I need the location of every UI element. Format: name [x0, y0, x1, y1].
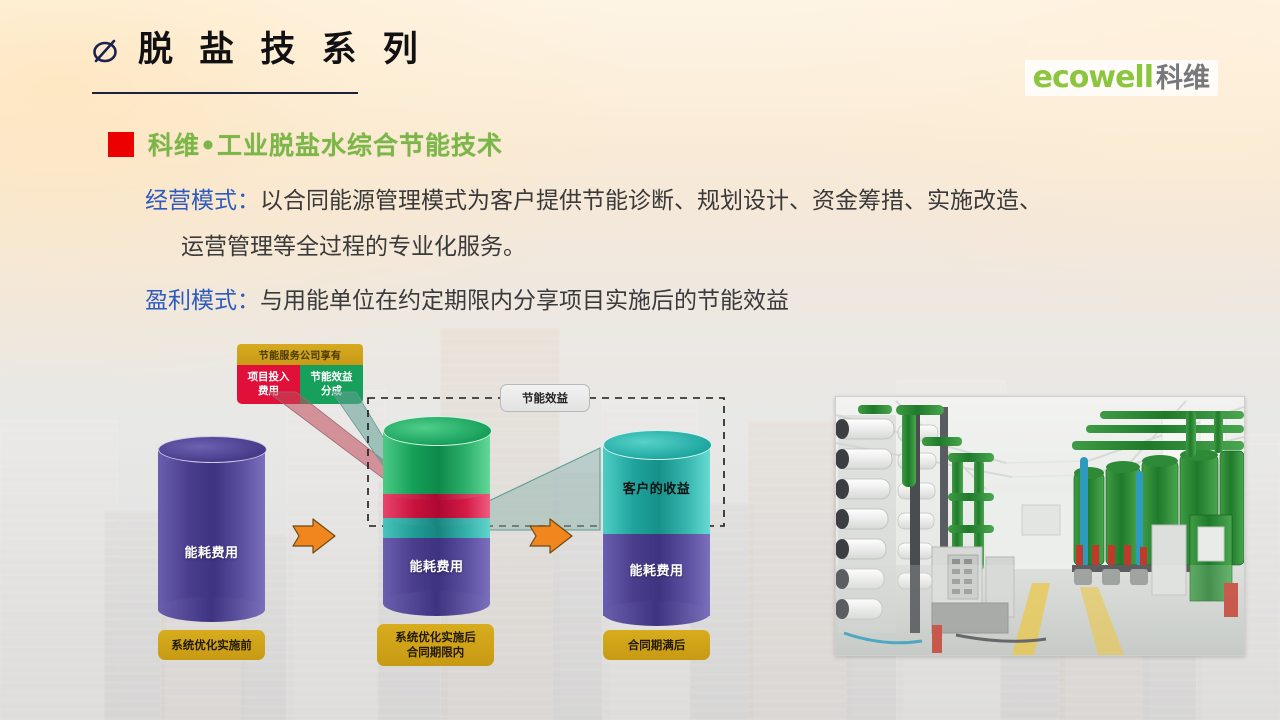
- null-symbol-icon: [88, 34, 122, 68]
- logo-text-secondary: 科维: [1156, 65, 1210, 92]
- paragraph-business-model: 经营模式：以合同能源管理模式为客户提供节能诊断、规划设计、资金筹措、实施改造、 …: [145, 178, 1230, 270]
- footer-tag-after: 合同期满后: [603, 630, 710, 660]
- footer-tag-during-line1: 系统优化实施后: [395, 630, 476, 645]
- title-row: 脱 盐 技 系 列: [88, 33, 425, 68]
- paragraph-sep-1: ：: [237, 188, 260, 214]
- paragraph-profit-model: 盈利模式：与用能单位在约定期限内分享项目实施后的节能效益: [145, 278, 1145, 324]
- slide: 脱 盐 技 系 列 ecowell 科维 科维•工业脱盐水综合节能技术 经营模式…: [0, 0, 1280, 720]
- cylinder-during-top-cap: [383, 416, 492, 446]
- cylinder-after-energy-label: 能耗费用: [603, 560, 710, 579]
- footer-tag-before: 系统优化实施前: [158, 630, 265, 660]
- title-underline: [92, 92, 358, 94]
- footer-tag-during: 系统优化实施后 合同期限内: [377, 624, 494, 666]
- cylinder-during: 能耗费用: [383, 416, 490, 622]
- red-square-bullet-icon: [108, 132, 134, 157]
- section-heading-row: 科维•工业脱盐水综合节能技术: [108, 126, 503, 162]
- cylinder-during-label: 能耗费用: [383, 556, 490, 575]
- brand-logo: ecowell 科维: [1025, 60, 1218, 96]
- paragraph-sep-2: ：: [237, 288, 260, 314]
- cylinder-after: 客户的收益 能耗费用: [603, 430, 710, 622]
- paragraph-line-1a: 以合同能源管理模式为客户提供节能诊断、规划设计、资金筹措、实施改造、: [260, 188, 1042, 214]
- paragraph-line-2a: 与用能单位在约定期限内分享项目实施后的节能效益: [260, 288, 789, 314]
- section-heading: 科维•工业脱盐水综合节能技术: [148, 126, 503, 162]
- paragraph-key-2: 盈利模式: [145, 288, 237, 314]
- paragraph-line-1b: 运营管理等全过程的专业化服务。: [145, 224, 1230, 270]
- cylinder-before-label: 能耗费用: [158, 542, 265, 561]
- cylinder-after-top-cap: [603, 430, 712, 460]
- cylinder-after-bottom-cap: [603, 601, 710, 626]
- paragraph-key-1: 经营模式: [145, 188, 237, 214]
- benefit-label-box: 节能效益: [500, 384, 590, 412]
- cylinder-during-bottom-cap: [383, 591, 490, 616]
- cylinder-before-body: [158, 448, 265, 610]
- cylinder-before-bottom-cap: [158, 597, 265, 622]
- cylinder-before: 能耗费用: [158, 436, 265, 622]
- footer-tag-after-line1: 合同期满后: [628, 638, 686, 653]
- logo-text-primary: ecowell: [1033, 63, 1153, 93]
- industrial-water-treatment-plant-photo: [835, 396, 1245, 656]
- esco-diagram: 节能服务公司享有 项目投入 费用 节能效益 分成: [0, 330, 820, 670]
- cylinder-before-top-cap: [158, 436, 267, 463]
- footer-tag-before-line1: 系统优化实施前: [171, 638, 252, 653]
- page-title: 脱 盐 技 系 列: [138, 33, 425, 68]
- cylinder-after-benefit-label: 客户的收益: [603, 478, 710, 497]
- footer-tag-during-line2: 合同期限内: [407, 645, 465, 660]
- arrow-right-icon-1: [293, 519, 335, 553]
